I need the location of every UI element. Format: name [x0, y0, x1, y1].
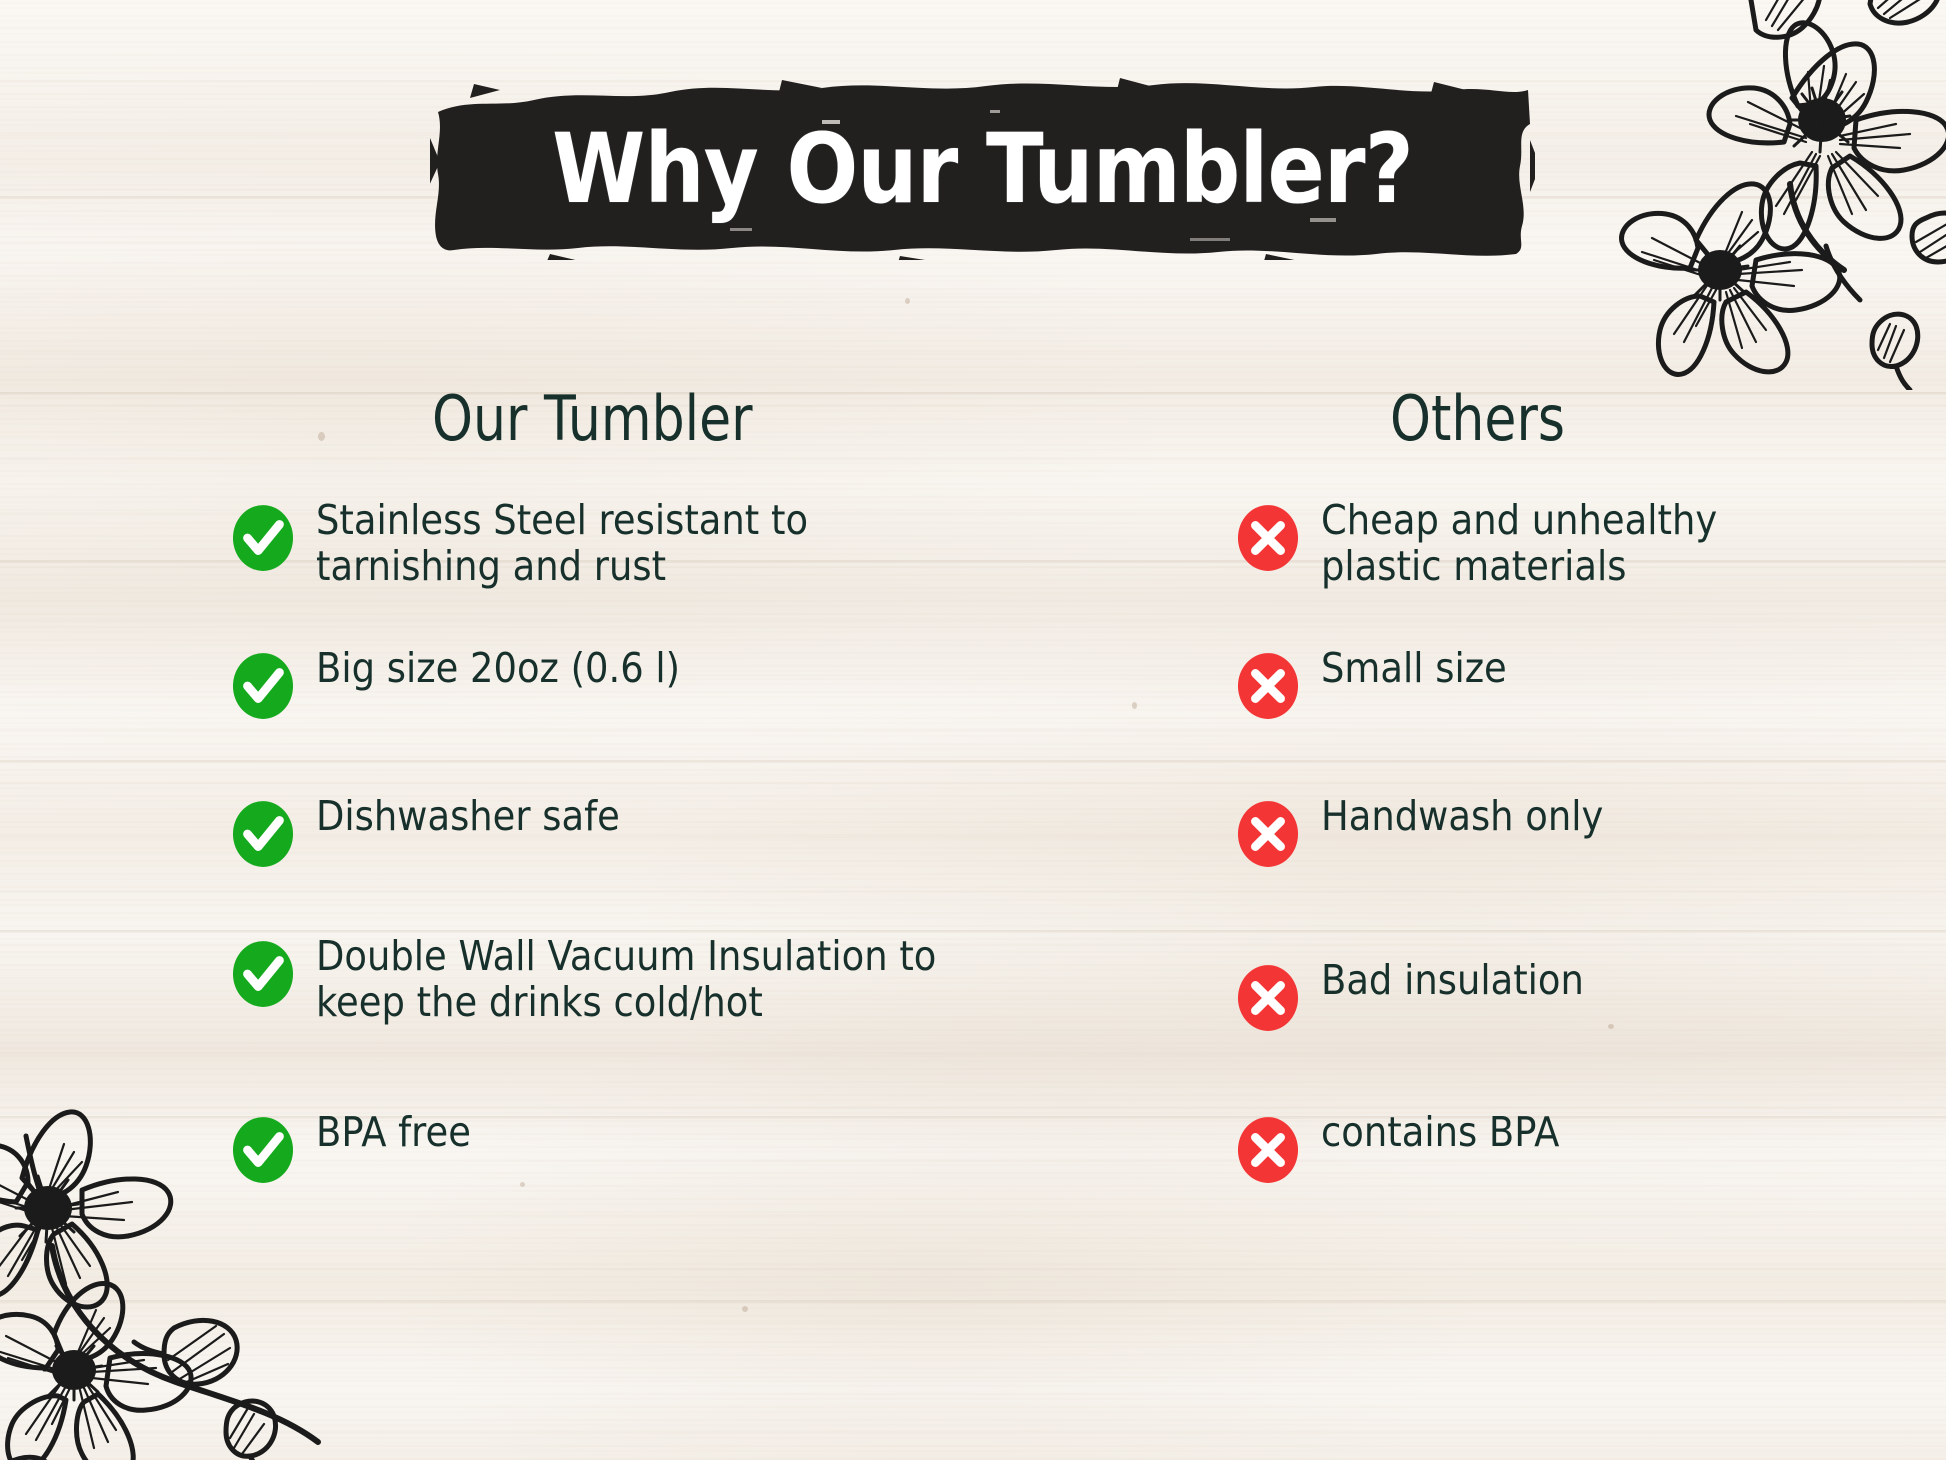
check-circle-icon: [232, 800, 294, 868]
list-item-label: contains BPA: [1321, 1110, 1559, 1156]
list-item: Handwash only: [1237, 794, 1635, 868]
list-item-label: Small size: [1321, 646, 1507, 692]
list-item: Big size 20oz (0.6 l): [232, 646, 721, 720]
list-item-label: Big size 20oz (0.6 l): [316, 646, 680, 692]
list-item: Stainless Steel resistant to tarnishing …: [232, 498, 863, 590]
cross-circle-icon: [1237, 504, 1299, 572]
list-item-label: Cheap and unhealthy plastic materials: [1321, 498, 1717, 590]
list-item-label: Dishwasher safe: [316, 794, 620, 840]
column-heading-ours: Our Tumbler: [432, 382, 753, 455]
cross-circle-icon: [1237, 800, 1299, 868]
list-item: Double Wall Vacuum Insulation to keep th…: [232, 934, 1005, 1026]
cross-circle-icon: [1237, 964, 1299, 1032]
poster-canvas: Why Our Tumbler? Our Tumbler Others Stai…: [0, 0, 1946, 1460]
list-item: contains BPA: [1237, 1110, 1586, 1184]
cross-circle-icon: [1237, 652, 1299, 720]
page-title: Why Our Tumbler?: [496, 78, 1468, 260]
list-item-label: Handwash only: [1321, 794, 1603, 840]
cross-circle-icon: [1237, 1116, 1299, 1184]
list-item-label: Double Wall Vacuum Insulation to keep th…: [316, 934, 936, 1026]
title-banner: Why Our Tumbler?: [430, 78, 1535, 260]
check-circle-icon: [232, 1116, 294, 1184]
list-item-label: Stainless Steel resistant to tarnishing …: [316, 498, 808, 590]
column-heading-others: Others: [1390, 382, 1565, 455]
check-circle-icon: [232, 652, 294, 720]
list-item: BPA free: [232, 1110, 488, 1184]
check-circle-icon: [232, 940, 294, 1008]
list-item: Cheap and unhealthy plastic materials: [1237, 498, 1761, 590]
list-item: Bad insulation: [1237, 958, 1613, 1032]
list-item: Dishwasher safe: [232, 794, 654, 868]
list-item: Small size: [1237, 646, 1527, 720]
list-item-label: Bad insulation: [1321, 958, 1584, 1004]
check-circle-icon: [232, 504, 294, 572]
list-item-label: BPA free: [316, 1110, 471, 1156]
comparison-grid: Stainless Steel resistant to tarnishing …: [0, 498, 1946, 1058]
